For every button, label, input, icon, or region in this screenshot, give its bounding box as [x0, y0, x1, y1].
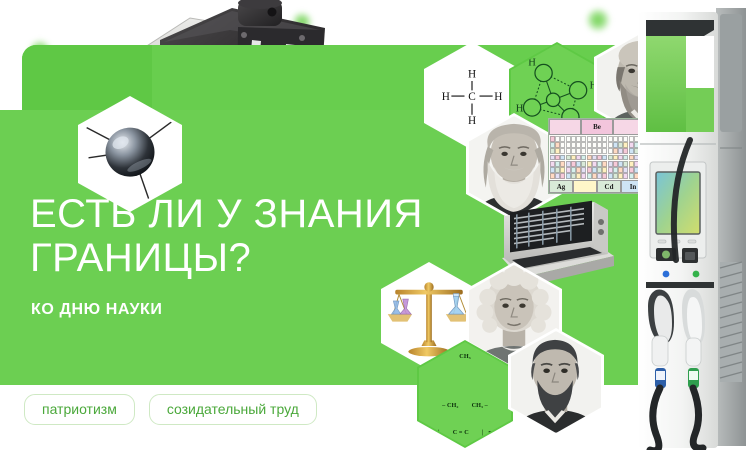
- pt-element-cell: [571, 142, 576, 148]
- polymer-line-4: | C = C | n: [430, 428, 501, 437]
- pt-element-cell: [623, 148, 628, 154]
- pt-element-cell: [587, 148, 592, 154]
- page-subtitle: КО ДНЮ НАУКИ: [31, 301, 162, 319]
- pt-element-cell: [581, 155, 586, 161]
- pt-element-cell: [550, 173, 555, 179]
- pt-element-cell: [555, 167, 560, 173]
- pt-element-cell: [555, 173, 560, 179]
- pt-element-cell: [592, 142, 597, 148]
- pt-element-cell: [581, 148, 586, 154]
- pt-element-cell: [550, 155, 555, 161]
- pt-element-cell: [623, 173, 628, 179]
- pt-element-cell: [623, 167, 628, 173]
- pt-element-cell: [623, 155, 628, 161]
- svg-text:H: H: [468, 68, 476, 80]
- pt-element-cell: [618, 148, 623, 154]
- pt-element-cell: [608, 148, 613, 154]
- pt-element-cell: [566, 161, 571, 167]
- pt-element-cell: [571, 167, 576, 173]
- svg-text:H: H: [528, 57, 536, 68]
- pt-element-cell: [555, 161, 560, 167]
- pt-element-cell: [587, 173, 592, 179]
- pt-element-cell: [613, 142, 618, 148]
- pt-element-cell: [623, 142, 628, 148]
- polymer-line-3: – CH₂ CH₃ –: [430, 401, 501, 410]
- pt-element-cell: [597, 142, 602, 148]
- pt-element-cell: [550, 167, 555, 173]
- pt-element-cell: [550, 148, 555, 154]
- pt-element-cell: [560, 167, 565, 173]
- svg-text:H: H: [442, 91, 450, 103]
- pt-element-cell: [613, 173, 618, 179]
- pt-element-cell: [613, 167, 618, 173]
- pt-element-cell: [608, 173, 613, 179]
- pt-element-cell: [613, 161, 618, 167]
- pt-element-cell: [597, 173, 602, 179]
- svg-text:C: C: [468, 91, 476, 103]
- pt-element-cell: [560, 148, 565, 154]
- pt-element-cell: [560, 142, 565, 148]
- pt-element-cell: [555, 148, 560, 154]
- pt-element-cell: [576, 173, 581, 179]
- pt-element-cell: [623, 161, 628, 167]
- pt-element-cell: [566, 148, 571, 154]
- pt-element-cell: [602, 173, 607, 179]
- pt-element-cell: [550, 161, 555, 167]
- pt-element-cell: [550, 136, 555, 142]
- pt-element-cell: [597, 167, 602, 173]
- banner-root: ЕСТЬ ЛИ У ЗНАНИЯ ГРАНИЦЫ? КО ДНЮ НАУКИ: [0, 0, 746, 450]
- pt-cell-cd: Cd: [597, 180, 621, 193]
- pt-element-cell: [602, 136, 607, 142]
- pt-element-cell: [618, 161, 623, 167]
- pt-element-cell: [576, 161, 581, 167]
- pt-element-cell: [571, 148, 576, 154]
- pt-element-cell: [571, 173, 576, 179]
- pt-element-cell: [571, 136, 576, 142]
- pt-element-cell: [550, 142, 555, 148]
- pt-element-cell: [566, 142, 571, 148]
- pt-element-cell: [587, 155, 592, 161]
- polymer-formula-text: n CH₂ = C - CH = CH₂ → CH₃ – CH₂ CH₃ – |…: [430, 342, 501, 446]
- tag-list: патриотизм созидательный труд: [24, 394, 317, 425]
- pt-element-cell: [608, 142, 613, 148]
- pt-element-cell: [576, 142, 581, 148]
- pt-element-cell: [602, 155, 607, 161]
- pt-element-cell: [618, 136, 623, 142]
- pt-element-cell: [608, 167, 613, 173]
- tag-patriotism[interactable]: патриотизм: [24, 394, 135, 425]
- pt-element-cell: [602, 148, 607, 154]
- pt-element-cell: [560, 173, 565, 179]
- pt-element-cell: [560, 136, 565, 142]
- pt-element-cell: [602, 167, 607, 173]
- pt-element-cell: [613, 155, 618, 161]
- pt-element-cell: [566, 167, 571, 173]
- pt-element-cell: [602, 161, 607, 167]
- svg-text:H: H: [516, 103, 524, 114]
- page-title: ЕСТЬ ЛИ У ЗНАНИЯ ГРАНИЦЫ?: [30, 192, 460, 280]
- pt-element-cell: [602, 142, 607, 148]
- pt-element-cell: [613, 148, 618, 154]
- pt-element-cell: [581, 136, 586, 142]
- pt-element-cell: [597, 161, 602, 167]
- pt-element-cell: [571, 161, 576, 167]
- pt-element-cell: [581, 161, 586, 167]
- pt-cell-be: Be: [581, 119, 613, 135]
- pt-element-cell: [560, 161, 565, 167]
- pt-element-cell: [592, 155, 597, 161]
- pt-element-cell: [608, 161, 613, 167]
- pt-element-cell: [587, 142, 592, 148]
- pt-element-cell: [587, 136, 592, 142]
- pt-element-cell: [581, 167, 586, 173]
- pt-element-cell: [618, 167, 623, 173]
- pt-element-cell: [597, 155, 602, 161]
- pt-element-cell: [560, 155, 565, 161]
- ev-charging-station-photo: [630, 0, 746, 450]
- pt-element-cell: [576, 167, 581, 173]
- pt-element-cell: [571, 155, 576, 161]
- pt-element-cell: [597, 136, 602, 142]
- pt-element-cell: [555, 136, 560, 142]
- pt-element-cell: [576, 148, 581, 154]
- pt-element-cell: [581, 173, 586, 179]
- pt-cell-blank-1: [549, 119, 581, 135]
- pt-element-cell: [592, 148, 597, 154]
- pt-element-cell: [566, 136, 571, 142]
- pt-element-cell: [623, 136, 628, 142]
- pt-element-cell: [566, 173, 571, 179]
- pt-element-cell: [555, 142, 560, 148]
- pt-element-cell: [592, 167, 597, 173]
- kurchatov-portrait: [511, 331, 601, 433]
- glow-dot-topright: [586, 8, 610, 32]
- pt-element-cell: [581, 142, 586, 148]
- pt-element-cell: [597, 148, 602, 154]
- tag-creative-labor[interactable]: созидательный труд: [149, 394, 317, 425]
- pt-element-cell: [555, 155, 560, 161]
- pt-element-cell: [576, 136, 581, 142]
- pt-element-cell: [576, 155, 581, 161]
- pt-element-cell: [587, 161, 592, 167]
- sputnik-satellite-icon: [81, 99, 179, 209]
- pt-cell-ag: Ag: [549, 180, 573, 193]
- pt-element-cell: [618, 155, 623, 161]
- pt-element-cell: [613, 136, 618, 142]
- pt-element-cell: [608, 155, 613, 161]
- pt-element-cell: [566, 155, 571, 161]
- pt-element-cell: [618, 173, 623, 179]
- pt-element-cell: [592, 161, 597, 167]
- pt-element-cell: [587, 167, 592, 173]
- svg-text:H: H: [468, 115, 476, 127]
- svg-text:H: H: [494, 91, 502, 103]
- pt-element-cell: [618, 142, 623, 148]
- pt-element-cell: [608, 136, 613, 142]
- pt-element-cell: [592, 136, 597, 142]
- pt-cell-blank-3: [573, 180, 597, 193]
- pt-element-cell: [592, 173, 597, 179]
